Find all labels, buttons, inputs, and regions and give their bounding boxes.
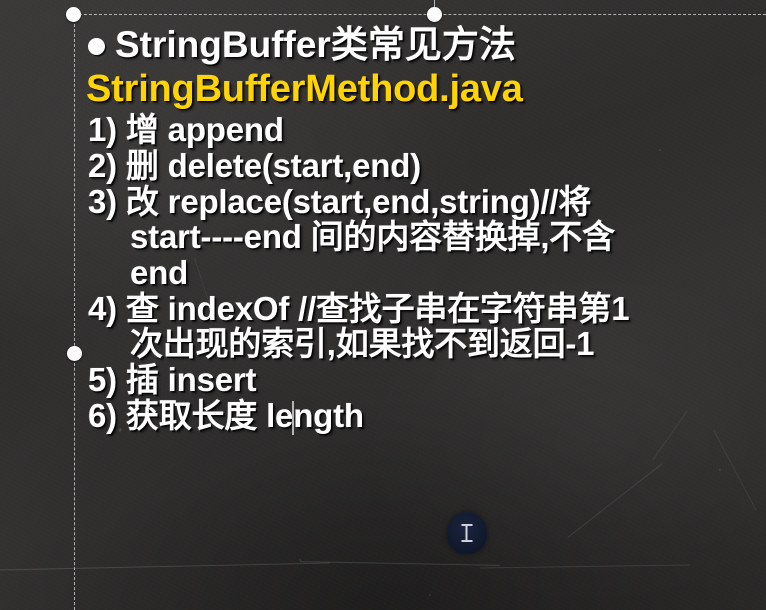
list-item-4-continuation[interactable]: 次出现的索引,如果找不到返回-1: [88, 327, 756, 361]
top-middle-resize-handle[interactable]: [427, 7, 442, 22]
chalk-scratch-mark: [713, 431, 756, 511]
i-beam-cursor-icon: [462, 523, 473, 543]
selection-border-top: [74, 14, 766, 15]
selection-border-left: [74, 14, 75, 610]
list-item-2[interactable]: 2) 删 delete(start,end): [88, 149, 756, 183]
list-item-4[interactable]: 4) 查 indexOf //查找子串在字符串第1: [88, 292, 756, 326]
text-caret: [292, 401, 294, 435]
list-item-6-text-before-caret: 6) 获取长度 le: [88, 397, 293, 434]
chalk-scratch-mark: [300, 561, 500, 566]
text-block[interactable]: StringBuffer类常见方法 StringBufferMethod.jav…: [88, 26, 756, 436]
list-item-1[interactable]: 1) 增 append: [88, 113, 756, 147]
filename-heading[interactable]: StringBufferMethod.java: [86, 70, 756, 109]
list-item-3[interactable]: 3) 改 replace(start,end,string)//将: [88, 185, 756, 219]
list-item-3-continuation-a[interactable]: start----end 间的内容替换掉,不含: [88, 220, 756, 254]
slide-title-text: StringBuffer类常见方法: [115, 24, 516, 65]
slide-title[interactable]: StringBuffer类常见方法: [88, 26, 756, 64]
top-left-resize-handle[interactable]: [66, 7, 81, 22]
middle-left-resize-handle[interactable]: [67, 346, 82, 361]
chalk-scratch-mark: [480, 565, 690, 569]
mouse-cursor-highlight: [447, 512, 487, 554]
bullet-dot-icon: [88, 38, 105, 55]
list-item-6-text-after-caret: ngth: [293, 397, 364, 434]
slide-canvas[interactable]: StringBuffer类常见方法 StringBufferMethod.jav…: [0, 0, 766, 610]
list-item-6[interactable]: 6) 获取长度 length: [88, 399, 756, 434]
chalk-scratch-mark: [567, 463, 662, 538]
list-item-3-continuation-b[interactable]: end: [88, 256, 756, 290]
chalk-scratch-mark: [0, 563, 330, 571]
list-item-5[interactable]: 5) 插 insert: [88, 363, 756, 397]
